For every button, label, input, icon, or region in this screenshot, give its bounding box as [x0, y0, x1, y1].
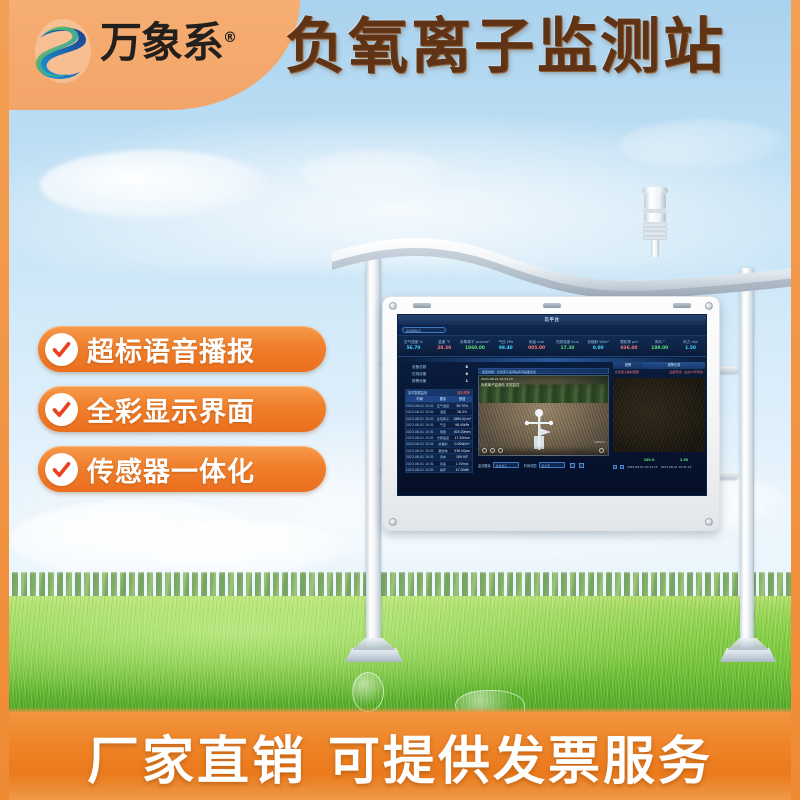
table-columns: 时间 要素 数值 [406, 396, 472, 402]
alert-panel[interactable]: 报警 报警记录 负氧离子超标报警 设备离线：站点03号离线 189.0 1.50 [613, 362, 705, 472]
view-toggle-icon-2[interactable] [579, 463, 584, 468]
wave-canopy [330, 228, 800, 300]
cell-time: 2023-08-01 10:31:15 [406, 467, 434, 472]
kpi-value: 56.70 [398, 345, 429, 353]
bezel-screw [389, 302, 397, 310]
bezel-tab [543, 303, 561, 308]
feature-badge-2[interactable]: 全彩显示界面 [38, 386, 326, 432]
table-row[interactable]: 2023-08-01 10:31:15风向189.00° [406, 453, 472, 459]
table-row[interactable]: 2023-08-01 10:31:15气压98.40kPa [406, 421, 472, 427]
snapshot-icon[interactable] [498, 448, 503, 453]
cell-value: 036.00μm [452, 448, 472, 453]
table-row[interactable]: 2023-08-01 10:31:15噪声47.00dB [406, 466, 472, 472]
cell-value: 189.00° [452, 454, 472, 459]
kpi-10: 风力 m/s1.50 [675, 336, 706, 356]
cell-value: 1.50m/s [452, 461, 472, 466]
footer-icon-2[interactable] [620, 465, 624, 469]
bezel-screw [389, 518, 397, 526]
fullscreen-icon[interactable] [599, 448, 604, 453]
bezel-screw [705, 302, 713, 310]
right-orange-strip [791, 0, 800, 800]
cell-value: 28.3℃ [452, 409, 472, 414]
cell-time: 2023-08-01 10:31:15 [406, 441, 434, 446]
kpi-2: 温度 ℃28.30 [429, 336, 460, 356]
alert-footer: 2023-08-01 10:31:15 2023-08-01 10:31:15 [613, 462, 705, 472]
feature-badge-label: 超标语音播报 [87, 330, 255, 369]
cell-time: 2023-08-01 10:31:15 [406, 454, 434, 459]
footer-time-2: 2023-08-01 10:31:15 [661, 465, 692, 469]
table-row[interactable]: 2023-08-01 10:31:15总辐射0.00W/m² [406, 440, 472, 446]
kpi-value: 189.00 [644, 345, 675, 353]
kpi-row: 空气湿度 %56.70温度 ℃28.30负氧离子 pcs/cm³1860.00气… [398, 335, 706, 357]
cloud [300, 150, 450, 195]
video-watermark: CAM 01 [594, 440, 605, 444]
alert-tabs[interactable]: 报警 报警记录 [613, 362, 705, 369]
radiation-shield-sensor [632, 185, 678, 257]
cell-value: 56.70% [452, 403, 472, 408]
video-caption: 监控视频：负氧离子监测站实时画面监控 [478, 368, 609, 374]
base-plate-right [720, 648, 776, 662]
filter-label-2: 时间范围 [524, 463, 537, 468]
stat-summary: 设备总数8在线设备6报警设备1 [412, 364, 468, 385]
alert-item-2: 设备离线：站点03号离线 [669, 370, 703, 374]
table-row[interactable]: 2023-08-01 10:31:15温度28.3℃ [406, 408, 472, 414]
kpi-6: 光照强度 klux17.30 [552, 336, 583, 356]
col-value: 数值 [452, 396, 472, 402]
video-osd-time: 2023-08-01 10:31:15 [481, 377, 513, 381]
play-icon[interactable] [482, 448, 487, 453]
cell-time: 2023-08-01 10:31:15 [406, 416, 434, 421]
check-circle-icon [45, 393, 78, 426]
cell-param: 风向 [434, 454, 453, 459]
cell-param: 颗粒物 [434, 448, 453, 453]
dashboard-screen[interactable]: 云平台 请选择站点 空气湿度 %56.70温度 ℃28.30负氧离子 pcs/c… [397, 314, 707, 496]
kpi-1: 空气湿度 %56.70 [398, 336, 429, 356]
table-row[interactable]: 2023-08-01 10:31:15空气湿度56.70% [406, 402, 472, 408]
cell-time: 2023-08-01 10:31:15 [406, 403, 434, 408]
table-row[interactable]: 2023-08-01 10:31:15风速1.50m/s [406, 460, 472, 466]
kpi-3: 负氧离子 pcs/cm³1860.00 [460, 336, 491, 356]
col-time: 时间 [406, 396, 434, 402]
video-controls[interactable] [479, 446, 608, 455]
feature-badges: 超标语音播报全彩显示界面传感器一体化 [38, 326, 326, 506]
cell-param: 雨量 [434, 429, 453, 434]
bezel-tab [673, 303, 691, 308]
spiral-globe-logo [28, 16, 98, 86]
cell-value: 47.00dB [452, 467, 472, 472]
filter-dropdown-2[interactable]: 近七天 [539, 462, 565, 468]
kpi-value: 1.50 [675, 345, 706, 353]
footer-time-1: 2023-08-01 10:31:15 [627, 465, 658, 469]
feature-badge-1[interactable]: 超标语音播报 [38, 326, 326, 372]
table-row[interactable]: 2023-08-01 10:31:15雨量005.00mm [406, 428, 472, 434]
cell-param: 总辐射 [434, 441, 453, 446]
platform-title: 云平台 [544, 317, 559, 323]
cloud [40, 150, 270, 220]
bezel-tab [413, 303, 431, 308]
kpi-7: 总辐射 W/m²0.00 [583, 336, 614, 356]
cell-value: 98.40kPa [452, 422, 472, 427]
footer-icon-1[interactable] [613, 465, 617, 469]
realtime-data-table[interactable]: 实时数据监测 超标预警 时间 要素 数值 2023-08-01 10:31:15… [405, 389, 473, 473]
stat-value: 6 [465, 371, 468, 378]
kpi-value: 036.00 [614, 345, 645, 353]
cell-time: 2023-08-01 10:31:15 [406, 435, 434, 440]
poster-canvas: 云平台 请选择站点 空气湿度 %56.70温度 ℃28.30负氧离子 pcs/c… [0, 0, 800, 800]
filter-label-1: 监测要素 [478, 463, 491, 468]
kpi-8: 颗粒物 μm036.00 [614, 336, 645, 356]
cell-value: 17.30klux [452, 435, 472, 440]
footer-slogan: 厂家直销 可提供发票服务 [87, 719, 713, 794]
support-pole-left [366, 258, 381, 656]
brand-name: 万象系® [100, 22, 236, 64]
tab-alerts[interactable]: 报警 [613, 362, 643, 369]
alert-item-1: 负氧离子超标报警 [615, 370, 639, 374]
kpi-value: 28.30 [429, 345, 460, 353]
cloud [150, 520, 350, 580]
cell-param: 负氧离子 [434, 416, 453, 421]
cell-param: 风速 [434, 461, 453, 466]
registered-mark: ® [223, 30, 236, 46]
station-select[interactable]: 请选择站点 [402, 327, 446, 333]
live-camera-feed[interactable]: 2023-08-01 10:31:15 负氧离子监测站 实时监控 [478, 375, 609, 456]
kpi-value: 005.00 [521, 345, 552, 353]
table-row[interactable]: 2023-08-01 10:31:15负氧离子1860.0/cm³ [406, 415, 472, 421]
stat-row-2: 在线设备6 [412, 371, 468, 378]
cell-time: 2023-08-01 10:31:15 [406, 448, 434, 453]
stat-label: 在线设备 [412, 371, 426, 378]
mount-arm-right [718, 366, 738, 373]
stat-label: 报警设备 [412, 378, 426, 385]
kpi-value: 17.30 [552, 345, 583, 353]
table-row[interactable]: 2023-08-01 10:31:15光照强度17.30klux [406, 434, 472, 440]
stat-row-3: 报警设备1 [412, 378, 468, 385]
kpi-5: 雨量 mm005.00 [521, 336, 552, 356]
cell-param: 气压 [434, 422, 453, 427]
cell-time: 2023-08-01 10:31:15 [406, 422, 434, 427]
map-texture [613, 378, 705, 452]
kpi-value: 1860.00 [460, 345, 491, 353]
bezel-screw [705, 518, 713, 526]
left-orange-strip [0, 0, 9, 800]
table-body: 2023-08-01 10:31:15空气湿度56.70%2023-08-01 … [406, 402, 472, 472]
cell-param: 空气湿度 [434, 403, 453, 408]
col-param: 要素 [434, 396, 453, 402]
cell-time: 2023-08-01 10:31:15 [406, 461, 434, 466]
display-monitor: 云平台 请选择站点 空气湿度 %56.70温度 ℃28.30负氧离子 pcs/c… [382, 296, 720, 531]
brand-text: 万象系 [100, 18, 223, 67]
chart-filter-row[interactable]: 监测要素 负氧离子 时间范围 近七天 [478, 461, 609, 469]
kpi-4: 气压 kPa98.40 [490, 336, 521, 356]
view-toggle-icon-1[interactable] [570, 463, 575, 468]
cell-value: 1860.0/cm³ [452, 416, 472, 421]
alert-list: 负氧离子超标报警 设备离线：站点03号离线 [613, 369, 705, 375]
base-plate-left [345, 648, 403, 662]
stat-value: 8 [465, 364, 468, 371]
cell-time: 2023-08-01 10:31:15 [406, 409, 434, 414]
kpi-value: 0.00 [583, 345, 614, 353]
cell-param: 噪声 [434, 467, 453, 472]
cell-value: 0.00W/m² [452, 441, 472, 446]
page-title: 负氧离子监测站 [285, 16, 785, 79]
video-osd-label: 负氧离子监测站 实时监控 [481, 382, 519, 387]
check-circle-icon [45, 453, 78, 486]
support-pole-right [740, 268, 754, 656]
footer-banner: 厂家直销 可提供发票服务 [0, 712, 800, 800]
stat-label: 设备总数 [412, 364, 426, 371]
stat-value: 1 [465, 378, 468, 385]
cell-param: 光照强度 [434, 435, 453, 440]
cell-time: 2023-08-01 10:31:15 [406, 429, 434, 434]
table-row[interactable]: 2023-08-01 10:31:15颗粒物036.00μm [406, 447, 472, 453]
feature-badge-3[interactable]: 传感器一体化 [38, 446, 326, 492]
kpi-value: 98.40 [490, 345, 521, 353]
satellite-map[interactable] [613, 378, 705, 452]
feature-badge-label: 传感器一体化 [87, 450, 255, 489]
feature-badge-label: 全彩显示界面 [87, 390, 255, 429]
check-circle-icon [45, 333, 78, 366]
screen-header: 云平台 [398, 315, 706, 325]
kpi-9: 风向 °189.00 [644, 336, 675, 356]
bubble [352, 672, 384, 712]
tab-alert-records[interactable]: 报警记录 [643, 362, 705, 369]
filter-dropdown-1[interactable]: 负氧离子 [493, 462, 519, 468]
pause-icon[interactable] [490, 448, 495, 453]
stat-row-1: 设备总数8 [412, 364, 468, 371]
cell-param: 温度 [434, 409, 453, 414]
mount-arm-right-2 [718, 472, 738, 479]
cloud [620, 120, 790, 170]
cell-value: 005.00mm [452, 429, 472, 434]
